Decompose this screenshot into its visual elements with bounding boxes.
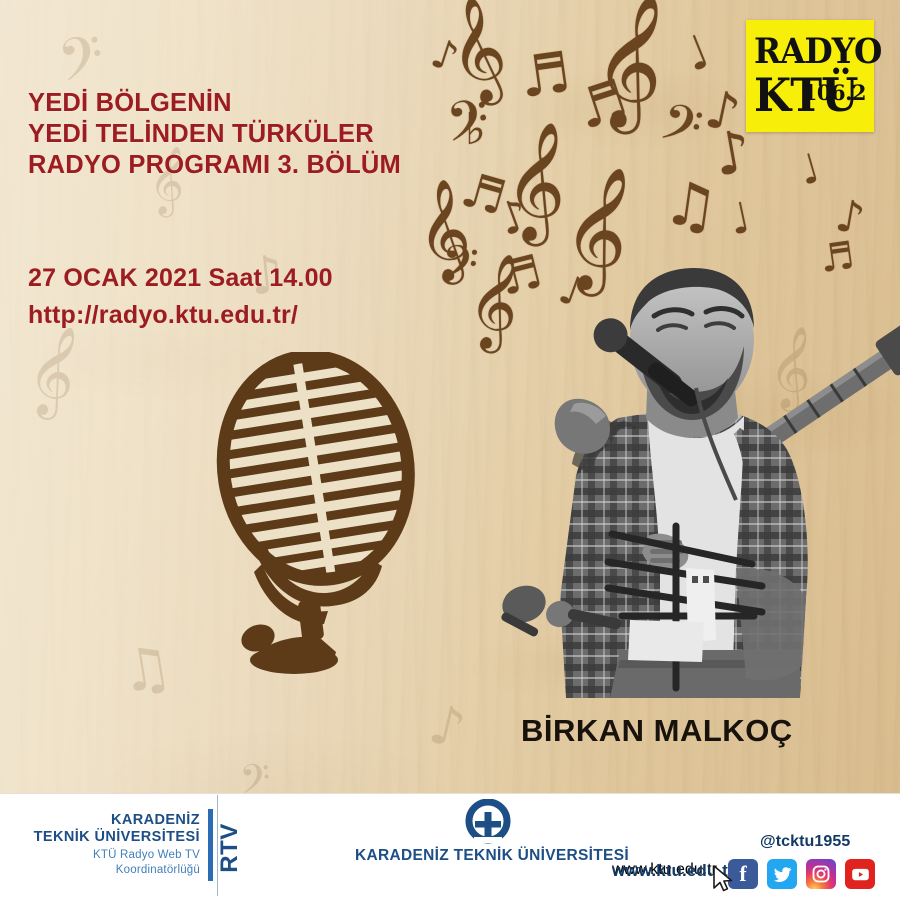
music-note-glyph: ♬ — [516, 45, 574, 107]
stream-url-link[interactable]: http://radyo.ktu.edu.tr/ — [28, 297, 333, 334]
social-icon-row: f — [728, 859, 880, 891]
music-note-glyph: ♫ — [660, 173, 722, 240]
twitter-icon[interactable] — [767, 859, 797, 889]
radio-frequency-label: 106.2 — [803, 82, 866, 103]
headline-line-2: YEDİ TELİNDEN TÜRKÜLER — [28, 119, 401, 150]
headline-line-1: YEDİ BÖLGENİN — [28, 88, 401, 119]
broadcast-datetime: 27 OCAK 2021 Saat 14.00 — [28, 260, 333, 297]
instagram-icon[interactable] — [806, 859, 836, 889]
social-handle-text: @tcktu1955 — [760, 833, 850, 851]
music-note-glyph: 𝄢 — [444, 93, 493, 163]
radyo-ktu-logo[interactable]: RADYO KTÜ 106.2 — [746, 20, 874, 132]
performer-photo — [500, 268, 900, 713]
poster-canvas: 𝄢 𝄞 𝄞 ♪ 𝄢 ♫ 𝄞 ♬ ♪ 𝄢 𝄞♪♬𝄞♩♪♭𝄢𝄞♬𝄢♪♩♬𝄞♪𝄞♫♩𝄢… — [0, 0, 900, 900]
radyo-logo-word: RADYO — [754, 34, 881, 69]
page-title: YEDİ BÖLGENİN YEDİ TELİNDEN TÜRKÜLER RAD… — [28, 88, 401, 181]
schedule-block: 27 OCAK 2021 Saat 14.00 http://radyo.ktu… — [28, 260, 333, 334]
music-note-glyph: 𝄢 — [653, 96, 707, 166]
music-note-glyph: ♩ — [678, 28, 715, 79]
headline-line-3: RADYO PROGRAMI 3. BÖLÜM — [28, 150, 401, 181]
mouse-cursor-icon — [711, 864, 735, 894]
youtube-icon[interactable] — [845, 859, 875, 889]
music-note-glyph: ♩ — [795, 148, 824, 192]
performer-name-caption: BİRKAN MALKOÇ — [521, 713, 793, 749]
retro-microphone-icon — [196, 352, 436, 682]
music-note-glyph: ♩ — [726, 196, 754, 241]
